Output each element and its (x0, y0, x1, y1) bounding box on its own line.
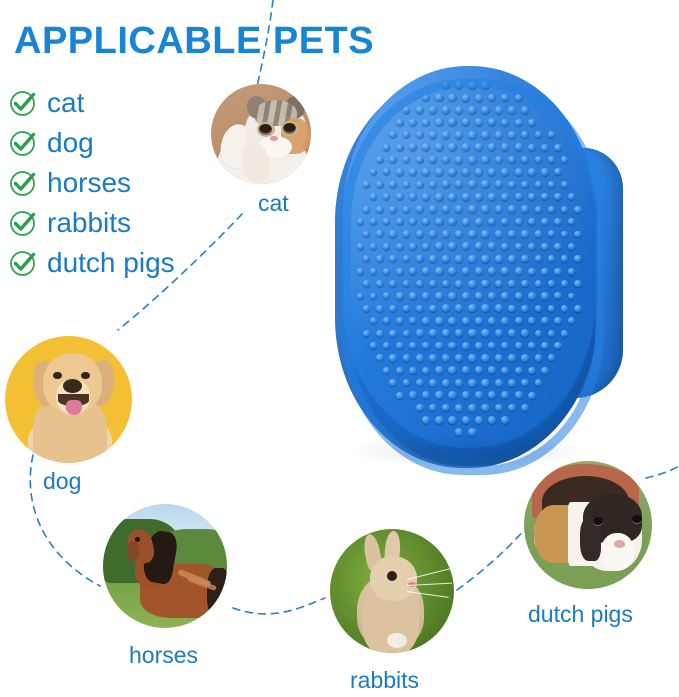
checklist-label: dutch pigs (47, 249, 175, 277)
applicable-pets-checklist: cat dog horses (8, 83, 238, 283)
checklist-label: dog (47, 129, 94, 157)
page-title: APPLICABLE PETS (14, 20, 374, 63)
applicable-pets-infographic: APPLICABLE PETS cat dog (0, 0, 679, 697)
pet-label-cat: cat (258, 192, 289, 215)
checklist-item-rabbits: rabbits (8, 203, 238, 243)
pet-label-horses: horses (129, 644, 198, 667)
dog-photo-art (5, 336, 132, 463)
pet-node-cat: cat (211, 84, 311, 184)
brush-drop-shadow (345, 434, 591, 468)
checklist-label: horses (47, 169, 131, 197)
pet-node-dog: dog (5, 336, 132, 463)
dog-photo (5, 336, 132, 463)
connector-horses-to-rabbits (233, 598, 325, 614)
green-circle-check-icon (8, 168, 38, 198)
guinea-pig-photo (524, 461, 652, 589)
pet-node-horses: horses (103, 504, 227, 628)
pet-label-dog: dog (43, 470, 81, 493)
checklist-item-horses: horses (8, 163, 238, 203)
green-circle-check-icon (8, 128, 38, 158)
pet-node-rabbits: rabbits (330, 529, 454, 653)
pet-label-dutch-pigs: dutch pigs (528, 603, 633, 626)
rabbit-photo-art (330, 529, 454, 653)
green-circle-check-icon (8, 208, 38, 238)
horse-photo-art (103, 504, 227, 628)
checklist-label: cat (47, 89, 84, 117)
guinea-pig-photo-art (524, 461, 652, 589)
cat-photo-art (211, 84, 311, 184)
horse-photo (103, 504, 227, 628)
checklist-item-dutch-pigs: dutch pigs (8, 243, 238, 283)
checklist-label: rabbits (47, 209, 131, 237)
checklist-item-dog: dog (8, 123, 238, 163)
cat-photo (211, 84, 311, 184)
pet-node-dutch-pigs: dutch pigs (524, 461, 652, 589)
checklist-item-cat: cat (8, 83, 238, 123)
green-circle-check-icon (8, 248, 38, 278)
connector-rabbits-to-dutchpigs (457, 527, 527, 590)
brush-bristle-pad (343, 66, 595, 448)
rabbit-photo (330, 529, 454, 653)
pet-label-rabbits: rabbits (350, 669, 419, 692)
green-circle-check-icon (8, 88, 38, 118)
product-image-grooming-brush (331, 62, 631, 472)
